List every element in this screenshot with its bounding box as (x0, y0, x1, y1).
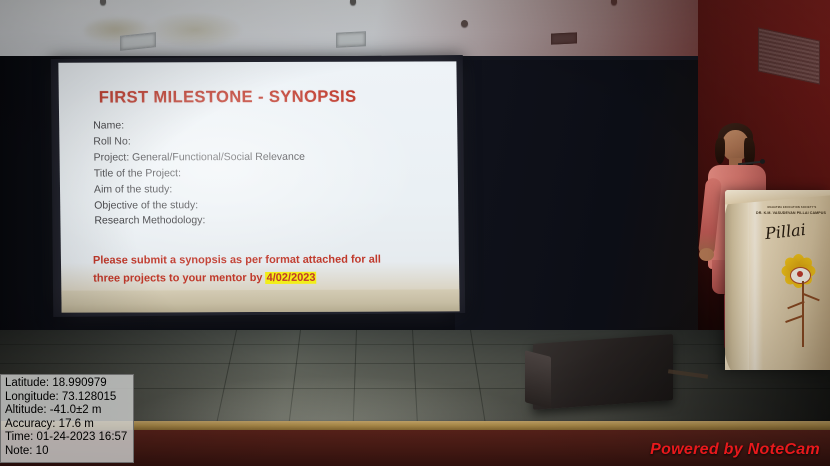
slide-bullet-methodology: Research Methodology: (94, 213, 438, 230)
slide-note-line-1: Please submit a synopsis as per format a… (93, 250, 439, 269)
floor-tile-line (353, 330, 357, 426)
floor-tile-line (216, 330, 237, 424)
floor-tile-line (288, 330, 301, 425)
gps-note: Note: 10 (5, 445, 127, 459)
podium-curved-edge (725, 196, 749, 370)
slide-bullet-roll-no: Roll No: (93, 133, 437, 150)
slide-bullet-project: Project: General/Functional/Social Relev… (94, 149, 438, 166)
flower-stem (802, 281, 804, 347)
slide-bullet-title: Title of the Project: (94, 165, 438, 182)
slide-submission-note: Please submit a synopsis as per format a… (91, 250, 439, 287)
presenter-hair-left (715, 138, 725, 164)
sunflower-logo-icon (773, 252, 830, 352)
right-wall-dark (455, 60, 715, 360)
gps-info-overlay: Latitude: 18.990979 Longitude: 73.128015… (0, 374, 134, 463)
speaker-front-face (525, 350, 551, 409)
podium-society-text: MAHATMA EDUCATION SOCIETY'S (757, 206, 827, 209)
podium-institute-text: DR. K.M. VASUDEVAN PILLAI CAMPUS (753, 211, 829, 215)
slide-bullet-objective: Objective of the study: (94, 197, 438, 214)
screen-bottom-border (61, 289, 459, 312)
floor-tile-line (0, 363, 830, 364)
stage-speaker-cabinet (533, 334, 673, 410)
gps-accuracy: Accuracy: 17.6 m (5, 418, 127, 432)
wall-vent-grille (758, 27, 820, 84)
slide-bullet-aim: Aim of the study: (94, 181, 438, 198)
microphone-icon (760, 159, 765, 164)
gps-latitude: Latitude: 18.990979 (5, 377, 127, 391)
flower-center-dot (797, 271, 803, 277)
gps-altitude: Altitude: -41.0±2 m (5, 404, 127, 418)
slide-title: FIRST MILESTONE - SYNOPSIS (99, 87, 437, 107)
presenter-hand (699, 248, 714, 261)
gps-time: Time: 01-24-2023 16:57 (5, 431, 127, 445)
gps-longitude: Longitude: 73.128015 (5, 391, 127, 405)
podium-top-surface (725, 190, 830, 205)
slide-note-deadline-highlight: 4/02/2023 (265, 272, 316, 284)
floor-tile-line (412, 330, 418, 426)
slide-note-prefix: three projects to your mentor by (93, 272, 266, 285)
screenshot-root: FIRST MILESTONE - SYNOPSIS Name: Roll No… (0, 0, 830, 466)
slide-note-line-2: three projects to your mentor by 4/02/20… (93, 268, 439, 287)
presentation-slide: FIRST MILESTONE - SYNOPSIS Name: Roll No… (58, 61, 459, 312)
podium: MAHATMA EDUCATION SOCIETY'S DR. K.M. VAS… (725, 190, 830, 370)
projection-screen: FIRST MILESTONE - SYNOPSIS Name: Roll No… (58, 61, 459, 312)
podium-signature-logo: Pillai (764, 220, 807, 243)
flower-leaf (785, 315, 803, 323)
floor-tile-line (470, 330, 486, 425)
slide-bullet-name: Name: (93, 117, 437, 134)
flower-leaf (802, 293, 820, 302)
podium-highlight (747, 190, 763, 370)
notecam-watermark: Powered by NoteCam (650, 441, 820, 459)
